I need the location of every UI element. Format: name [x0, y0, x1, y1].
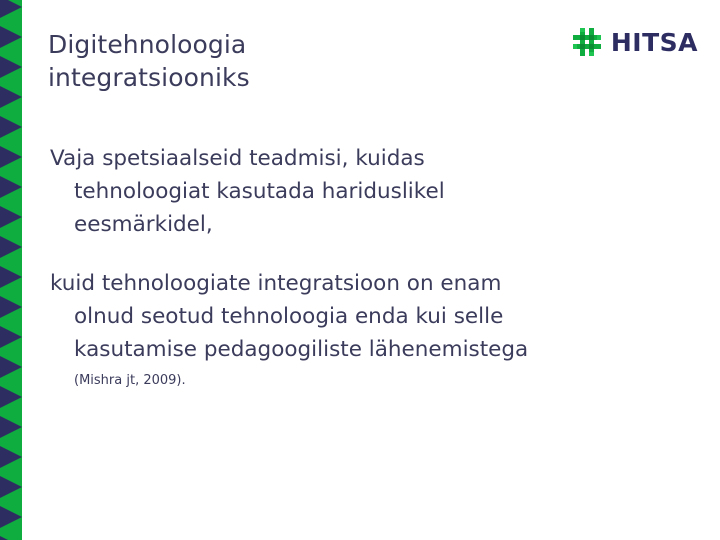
- triangle-marker: [0, 26, 22, 48]
- page-title-line-2: integratsiooniks: [48, 63, 250, 92]
- paragraph-one: Vaja spetsiaalseid teadmisi, kuidas tehn…: [50, 142, 690, 241]
- hash-grid-icon: [572, 27, 602, 57]
- triangle-marker: [0, 116, 22, 138]
- triangle-marker: [0, 356, 22, 378]
- triangle-stripe-pattern: [0, 0, 22, 540]
- triangle-marker: [0, 176, 22, 198]
- triangle-marker: [0, 446, 22, 468]
- paragraph-one-line-1: Vaja spetsiaalseid teadmisi, kuidas: [50, 146, 425, 171]
- triangle-marker: [0, 0, 22, 18]
- triangle-marker: [0, 326, 22, 348]
- triangle-marker: [0, 386, 22, 408]
- page-title: Digitehnoloogia integratsiooniks: [48, 28, 478, 94]
- brand-name: HITSA: [611, 30, 698, 55]
- paragraph-two: kuid tehnoloogiate integratsioon on enam…: [50, 267, 690, 366]
- triangle-marker: [0, 236, 22, 258]
- slide-canvas: HITSA Digitehnoloogia integratsiooniks V…: [0, 0, 720, 540]
- triangle-marker: [0, 146, 22, 168]
- triangle-marker: [0, 206, 22, 228]
- triangle-marker: [0, 416, 22, 438]
- paragraph-two-line-1: kuid tehnoloogiate integratsioon on enam: [50, 271, 501, 296]
- triangle-marker: [0, 266, 22, 288]
- paragraph-one-line-2: tehnoloogiat kasutada hariduslikel: [74, 175, 690, 208]
- page-title-line-1: Digitehnoloogia: [48, 30, 246, 59]
- sidebar-decoration: [0, 0, 22, 540]
- triangle-marker: [0, 536, 22, 540]
- brand-logo: HITSA: [572, 27, 698, 57]
- body-content: Vaja spetsiaalseid teadmisi, kuidas tehn…: [50, 142, 690, 390]
- citation-text: (Mishra jt, 2009).: [50, 372, 690, 390]
- triangle-marker: [0, 476, 22, 498]
- paragraph-two-line-2: olnud seotud tehnoloogia enda kui selle: [74, 300, 690, 333]
- triangle-marker: [0, 86, 22, 108]
- triangle-marker: [0, 56, 22, 78]
- paragraph-two-line-3: kasutamise pedagoogiliste lähenemistega: [74, 333, 690, 366]
- triangle-marker: [0, 296, 22, 318]
- paragraph-one-line-3: eesmärkidel,: [74, 208, 690, 241]
- triangle-marker: [0, 506, 22, 528]
